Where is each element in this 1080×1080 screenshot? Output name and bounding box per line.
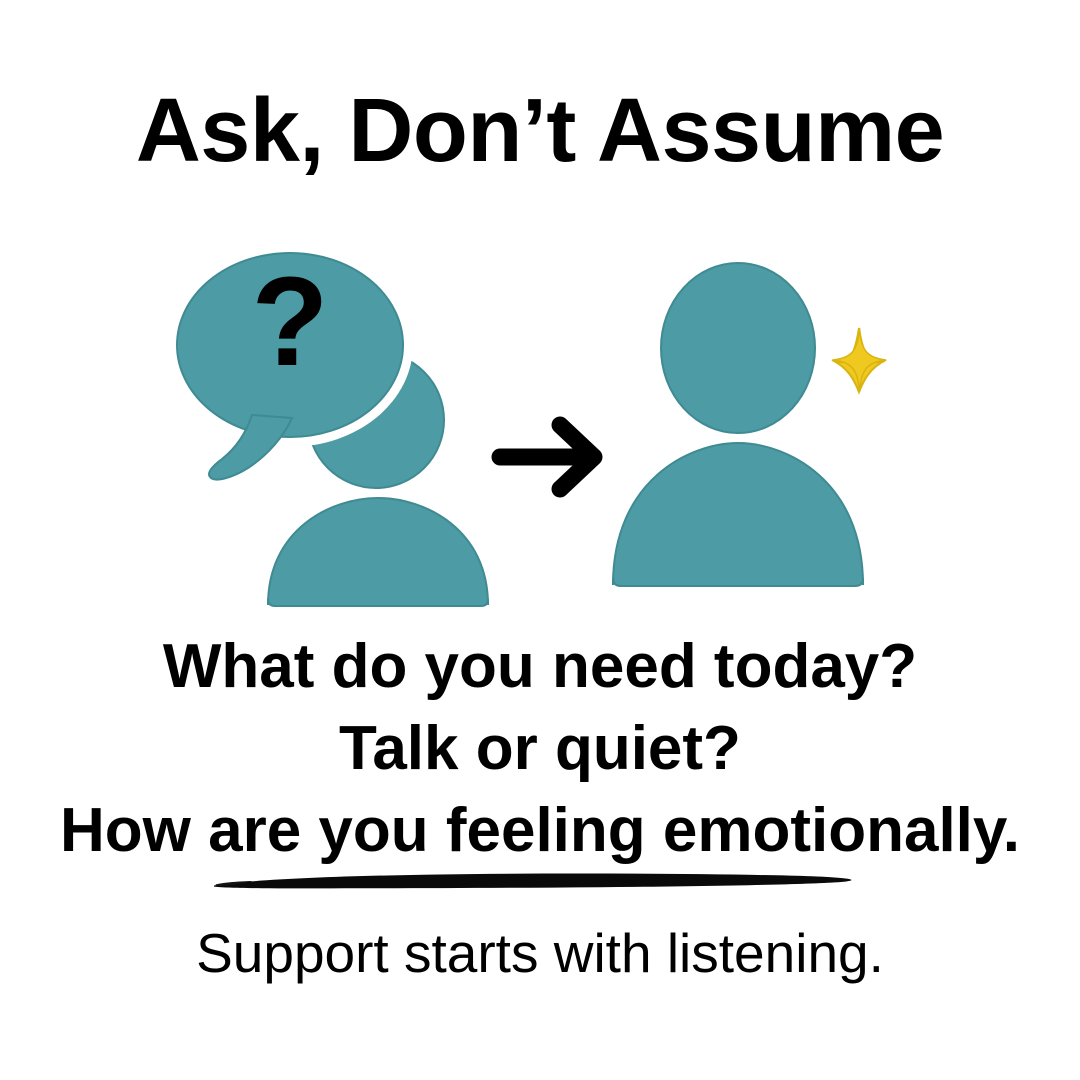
brush-underline-icon xyxy=(0,864,1080,904)
person-icon-head-right xyxy=(661,263,815,433)
speech-bubble-tail xyxy=(209,415,292,480)
person-icon-shoulders-left xyxy=(268,498,488,606)
person-supported-group xyxy=(613,263,886,586)
page-title: Ask, Don’t Assume xyxy=(0,86,1080,176)
sparkle-icon-body xyxy=(833,328,886,392)
illustration-svg: ? xyxy=(0,240,1080,620)
person-icon-shoulders-right xyxy=(613,443,863,586)
illustration-group: ? xyxy=(0,240,1080,620)
body-line-3: How are you feeling emotionally. xyxy=(0,800,1080,862)
footer-tagline: Support starts with listening. xyxy=(0,926,1080,981)
arrow-right-icon xyxy=(500,425,594,489)
question-mark-icon: ? xyxy=(252,251,329,392)
person-asking-group: ? xyxy=(177,251,488,606)
body-text-block: What do you need today? Talk or quiet? H… xyxy=(0,636,1080,862)
brush-underline-svg xyxy=(0,864,1080,904)
body-line-2: Talk or quiet? xyxy=(0,718,1080,780)
poster-canvas: Ask, Don’t Assume xyxy=(0,0,1080,1080)
body-line-1: What do you need today? xyxy=(0,636,1080,698)
